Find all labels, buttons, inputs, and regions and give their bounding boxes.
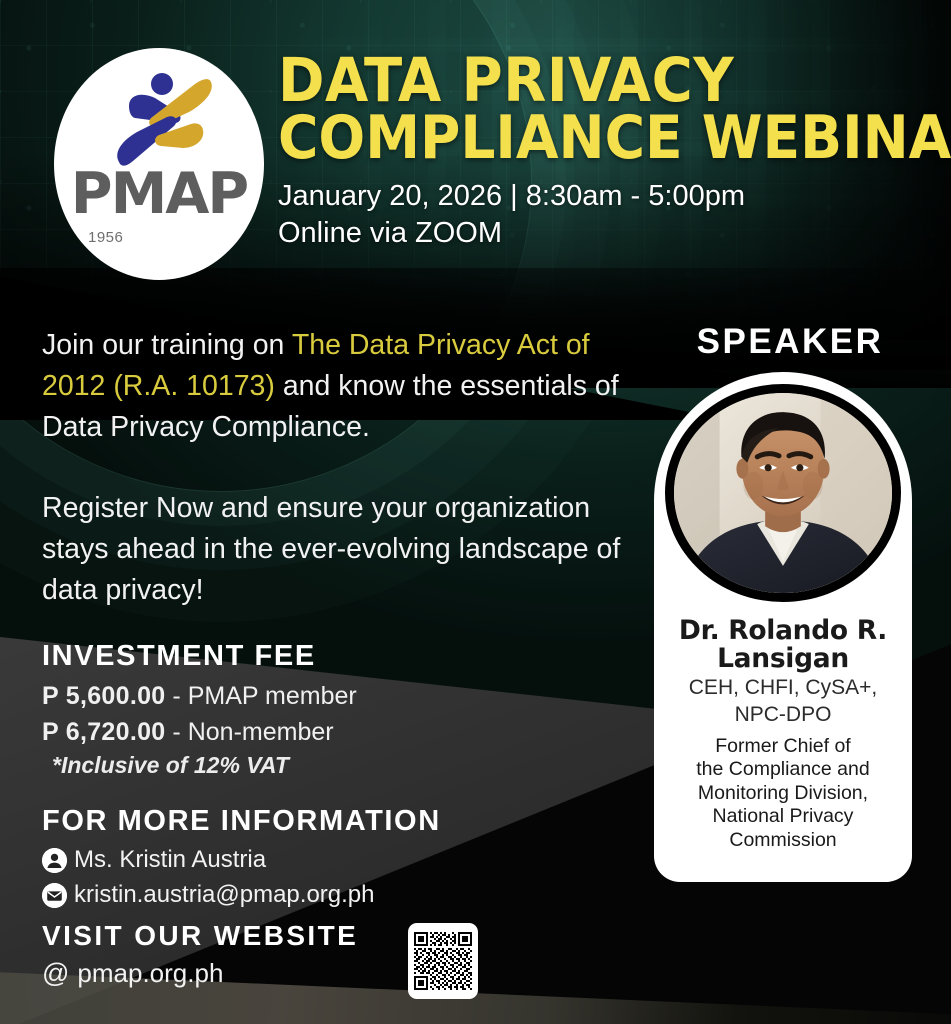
speaker-role-line-1: Former Chief of <box>660 735 906 758</box>
avatar <box>674 393 892 593</box>
body-paragraph-1: Join our training on The Data Privacy Ac… <box>42 325 642 448</box>
contact-email-row[interactable]: kristin.austria@pmap.org.ph <box>42 879 602 911</box>
speaker-role-line-5: Commission <box>660 829 906 852</box>
contact-heading: FOR MORE INFORMATION <box>42 805 602 838</box>
speaker-portrait-ring <box>665 384 901 602</box>
speaker-name-line-2: Lansigan <box>660 645 906 673</box>
contact-email-address: kristin.austria@pmap.org.ph <box>74 879 375 911</box>
qr-code-graphic <box>414 929 472 993</box>
speaker-portrait-illustration <box>674 393 892 593</box>
contact-person-name: Ms. Kristin Austria <box>74 844 266 876</box>
event-platform: Online via ZOOM <box>278 215 918 252</box>
body-paragraph-2: Register Now and ensure your organizatio… <box>42 488 642 611</box>
investment-fee-section: INVESTMENT FEE P 5,600.00 - PMAP member … <box>42 640 602 779</box>
contact-person-row: Ms. Kristin Austria <box>42 844 602 876</box>
fee-row: P 5,600.00 - PMAP member <box>42 679 602 715</box>
speaker-role-line-3: Monitoring Division, <box>660 782 906 805</box>
website-section: VISIT OUR WEBSITE @ pmap.org.ph <box>42 920 358 989</box>
speaker-name-line-1: Dr. Rolando R. <box>660 617 906 645</box>
fee-separator: - <box>165 718 187 746</box>
speaker-role-line-2: the Compliance and <box>660 758 906 781</box>
speaker-role-line-4: National Privacy <box>660 805 906 828</box>
pmap-figure-logo <box>99 68 219 173</box>
fee-amount: P 5,600.00 <box>42 682 165 710</box>
fee-row: P 6,720.00 - Non-member <box>42 715 602 751</box>
contact-section: FOR MORE INFORMATION Ms. Kristin Austria… <box>42 805 602 912</box>
speaker-card: Dr. Rolando R. Lansigan CEH, CHFI, CySA+… <box>654 372 912 882</box>
website-url-row[interactable]: @ pmap.org.ph <box>42 958 358 989</box>
fee-separator: - <box>165 682 187 710</box>
poster-title-line-2: COMPLIANCE WEBINAR <box>278 110 931 167</box>
fee-label: Non-member <box>188 718 334 746</box>
event-datetime: January 20, 2026 | 8:30am - 5:00pm <box>278 178 918 215</box>
person-icon <box>42 848 67 873</box>
speaker-credentials-line-2: NPC-DPO <box>660 703 906 727</box>
vat-note: *Inclusive of 12% VAT <box>42 752 602 779</box>
speaker-heading: SPEAKER <box>655 322 925 362</box>
website-heading: VISIT OUR WEBSITE <box>42 920 358 952</box>
speaker-details: Dr. Rolando R. Lansigan CEH, CHFI, CySA+… <box>660 617 906 852</box>
poster-title-line-1: DATA PRIVACY <box>278 52 931 110</box>
website-url: pmap.org.ph <box>77 958 223 989</box>
speaker-credentials-line-1: CEH, CHFI, CySA+, <box>660 676 906 700</box>
qr-code-icon[interactable] <box>408 923 478 999</box>
investment-fee-heading: INVESTMENT FEE <box>42 640 602 673</box>
body-copy: Join our training on The Data Privacy Ac… <box>42 325 642 611</box>
at-symbol-icon: @ <box>42 960 69 987</box>
title-block: DATA PRIVACY COMPLIANCE WEBINAR January … <box>278 52 918 252</box>
envelope-icon <box>42 883 67 908</box>
body-p1-pre: Join our training on <box>42 329 292 361</box>
pmap-wordmark: PMAP <box>54 166 264 223</box>
pmap-logo: PMAP 1956 <box>54 48 264 280</box>
webinar-poster: PMAP 1956 DATA PRIVACY COMPLIANCE WEBINA… <box>0 0 951 1024</box>
pmap-founding-year: 1956 <box>88 229 123 246</box>
fee-amount: P 6,720.00 <box>42 718 165 746</box>
fee-label: PMAP member <box>188 682 357 710</box>
